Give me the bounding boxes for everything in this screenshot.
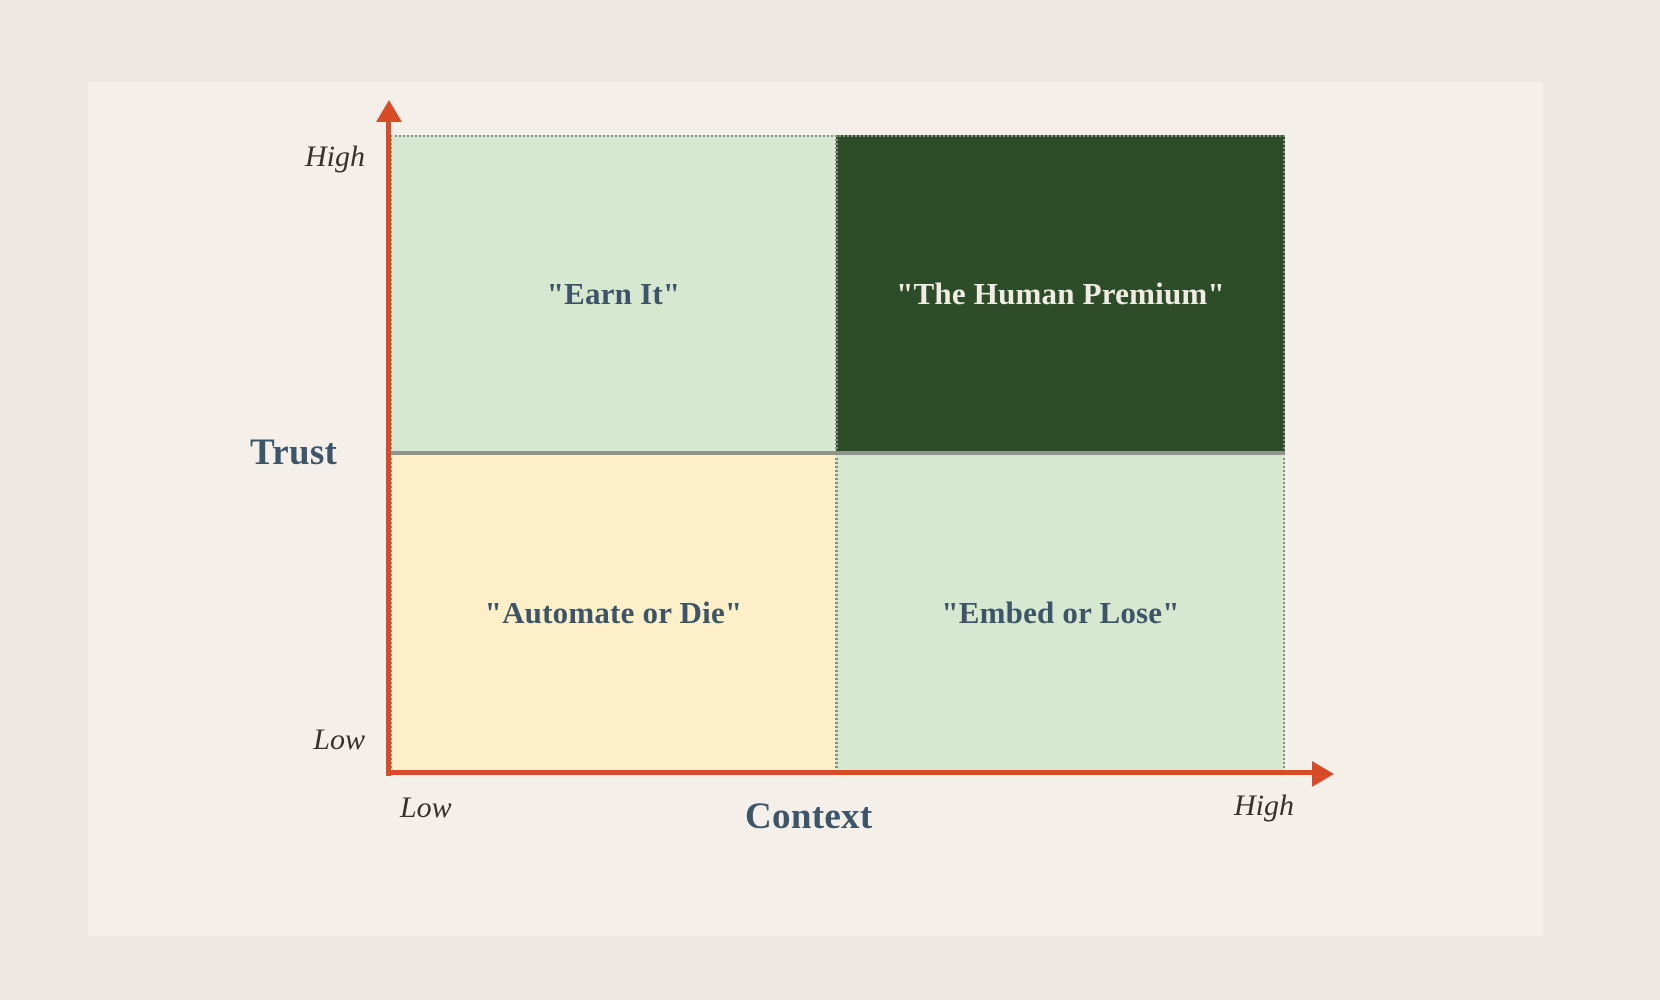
quadrant-bottom-right-embed-or-lose[interactable]: "Embed or Lose" (836, 453, 1285, 772)
quadrant-top-right-human-premium[interactable]: "The Human Premium" (836, 135, 1285, 453)
x-axis-arrowhead-icon (1312, 761, 1334, 787)
quadrant-label-automate-or-die: "Automate or Die" (485, 595, 743, 631)
y-axis-title: Trust (250, 431, 337, 474)
horizontal-midline-divider (390, 451, 1285, 455)
x-axis-tick-high: High (1234, 789, 1294, 823)
quadrant-label-embed-or-lose: "Embed or Lose" (941, 595, 1179, 631)
quadrant-top-left-earn-it[interactable]: "Earn It" (390, 135, 837, 453)
x-axis-line (386, 770, 1316, 775)
quadrant-matrix-plot-area: "Earn It" "The Human Premium" "Automate … (390, 135, 1285, 772)
quadrant-bottom-left-automate-or-die[interactable]: "Automate or Die" (390, 453, 837, 772)
y-axis-line (386, 118, 391, 776)
y-axis-arrowhead-icon (376, 100, 402, 122)
chart-card: "Earn It" "The Human Premium" "Automate … (88, 82, 1543, 936)
y-axis-tick-high: High (305, 140, 365, 174)
quadrant-label-human-premium: "The Human Premium" (896, 276, 1225, 312)
x-axis-title: Context (745, 795, 872, 838)
y-axis-tick-low: Low (313, 723, 365, 757)
quadrant-label-earn-it: "Earn It" (547, 276, 681, 312)
x-axis-tick-low: Low (400, 791, 452, 825)
